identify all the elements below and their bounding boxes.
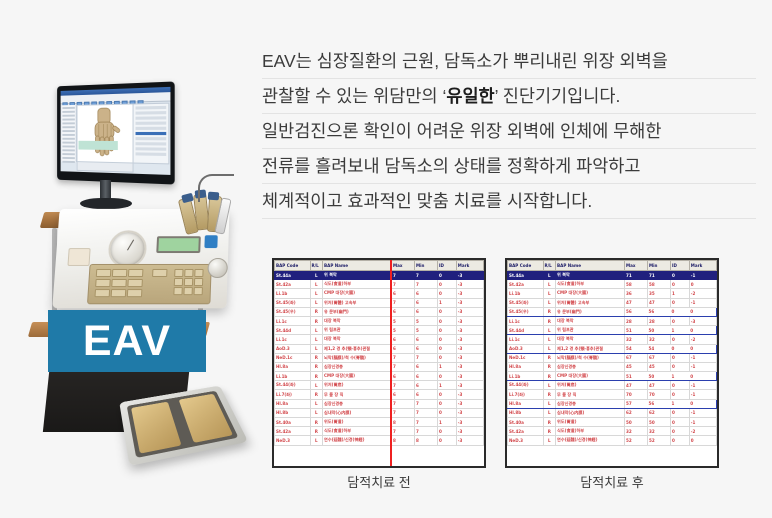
cell-4: 7 [415,271,438,280]
cell-0: St.42a [508,280,544,289]
cell-3: 45 [625,362,648,371]
cell-5: 1 [438,418,457,427]
cell-4: 58 [648,280,671,289]
column-header-5[interactable]: ID [438,261,457,271]
cell-6: 0 [689,280,716,289]
cell-2: 심내막(心内膜) [323,408,392,417]
cell-1: L [310,408,323,417]
cell-3: 7 [392,353,415,362]
cell-1: L [310,271,323,280]
cell-3: 54 [625,344,648,353]
cell-4: 47 [648,298,671,307]
cell-2: 심내막(心内膜) [556,408,625,417]
cell-1: R [310,390,323,399]
cell-2: CMP 대장(大腸) [556,289,625,298]
cell-4: 70 [648,390,671,399]
cell-3: 6 [392,390,415,399]
cell-5: 0 [671,271,690,280]
cell-4: 35 [648,289,671,298]
table-row[interactable]: Li.1bRCMP 대장(大腸)660-3 [275,372,484,381]
cell-5: 0 [438,289,457,298]
after-table-body: St.44aL위 복막71710-1St.42aL식도(食道)하부585800L… [508,271,717,446]
cell-5: 1 [671,326,690,335]
monitor-screen [61,87,171,175]
cell-1: L [543,271,556,280]
cell-3: 7 [392,399,415,408]
table-row[interactable]: St.45(우)R유 문부(幽門)660-3 [275,307,484,316]
table-row[interactable]: St.45(우)R유 문부(幽門)565600 [508,307,717,316]
column-header-2[interactable]: BAP Name [323,261,392,271]
column-header-5[interactable]: ID [671,261,690,271]
cell-0: St.44(좌) [508,381,544,390]
cell-0: Hl.8b [275,408,311,417]
cell-4: 67 [648,353,671,362]
cell-1: L [310,436,323,445]
cell-2: 위저(胃體) 고속부 [556,298,625,307]
cell-4: 71 [648,271,671,280]
cell-4: 6 [415,362,438,371]
cell-2: 대장 복막 [323,316,392,325]
table-row[interactable]: St.44aL위 복막71710-1 [508,271,717,280]
software-status-bar [77,161,134,173]
cell-3: 32 [625,335,648,344]
cell-6: -2 [689,335,716,344]
cell-2: 심장신경총 [556,399,625,408]
cell-5: 0 [671,335,690,344]
software-hand-canvas [77,103,134,163]
cell-3: 62 [625,408,648,417]
cell-3: 6 [392,372,415,381]
cell-6: 0 [689,436,716,445]
table-row[interactable]: Hl.8aR심장신경총45450-1 [508,362,717,371]
cell-3: 7 [392,271,415,280]
copy-line-3: 일반검진으론 확인이 어려운 위장 외벽에 인체에 무해한 [262,114,756,149]
cell-4: 32 [648,427,671,436]
table-row[interactable]: Hl.8aL심장신경총575610 [508,399,717,408]
cell-5: 0 [671,390,690,399]
cell-1: L [310,298,323,307]
cell-2: 식도(食道)하부 [323,280,392,289]
cell-6: -3 [456,436,483,445]
before-table-wrap: BAP CodeR/LBAP NameMaxMinIDMark St.44aL위… [272,258,486,468]
cell-1: R [543,362,556,371]
table-row[interactable]: St.40aR위도(胃道)871-3 [275,418,484,427]
cell-4: 7 [415,280,438,289]
copy-line-3-text: 일반검진으론 확인이 어려운 위장 외벽에 인체에 무해한 [262,121,661,141]
table-row[interactable]: Li.7(좌)R무 릎 장 직70700-1 [508,390,717,399]
cell-3: 67 [625,353,648,362]
table-row[interactable]: Hl.8bL심내막(心内膜)62620-1 [508,408,717,417]
cell-6: -3 [456,326,483,335]
table-header-row: BAP CodeR/LBAP NameMaxMinIDMark [275,261,484,271]
cell-6: -3 [456,427,483,436]
cell-4: 6 [415,344,438,353]
column-header-0[interactable]: BAP Code [508,261,544,271]
copy-line-5-text: 체계적이고 효과적인 맞춤 치료를 시작합니다. [262,191,592,211]
cell-2: 위저(胃底) [556,381,625,390]
cell-6: -1 [689,390,716,399]
cell-2: 연수(延髓)/신경(神經) [323,436,392,445]
foot-plate-inner [127,391,239,458]
cell-3: 52 [625,436,648,445]
cell-2: 위도(胃道) [323,418,392,427]
table-row[interactable]: Hl.8aL심장신경총770-3 [275,399,484,408]
cell-1: L [310,344,323,353]
cell-4: 6 [415,298,438,307]
cell-1: R [310,353,323,362]
cell-0: NeD.1c [508,353,544,362]
cell-1: L [543,399,556,408]
monitor-frame [57,81,175,184]
description-copy: EAV는 심장질환의 근원, 담독소가 뿌리내린 위장 외벽을 관찰할 수 있는… [262,44,756,219]
cell-6: 0 [689,344,716,353]
cell-2: 뇌막(腦膜)/척 수(脊髓) [323,353,392,362]
before-caption: 담적치료 전 [272,472,486,491]
cell-1: R [543,316,556,325]
rotary-knob[interactable] [207,258,228,278]
cell-0: St.45(좌) [275,298,311,307]
cell-4: 6 [415,335,438,344]
table-row[interactable]: Hl.8aR심장신경총761-3 [275,362,484,371]
cell-4: 45 [648,362,671,371]
column-header-6[interactable]: Mark [456,261,483,271]
copy-line-2-emphasis: 유일한 [446,86,494,106]
cell-6: -3 [456,289,483,298]
cell-0: Hl.8b [508,408,544,417]
cell-0: Li.1c [508,335,544,344]
before-table-body: St.44aL위 복막770-3St.42aL식도(食道)하부770-3Li.1… [275,271,484,446]
cell-0: Li.1b [508,372,544,381]
after-caption: 담적치료 후 [505,472,719,491]
cell-5: 0 [671,280,690,289]
cell-0: AoD.3 [508,344,544,353]
cell-1: R [310,362,323,371]
table-row[interactable]: St.44aL위 복막770-3 [275,271,484,280]
cell-6: -3 [456,335,483,344]
cell-0: Li.1b [275,289,311,298]
cell-2: 유 문부(幽門) [556,307,625,316]
copy-line-4-text: 전류를 흘려보내 담독소의 상태를 정확하게 파악하고 [262,156,641,176]
cell-1: R [543,390,556,399]
foot-plate-right [178,394,233,443]
table-row[interactable]: St.42aL식도(食道)하부770-3 [275,280,484,289]
cell-1: L [310,280,323,289]
cell-4: 47 [648,381,671,390]
column-header-4[interactable]: Min [648,261,671,271]
cell-6: -3 [456,280,483,289]
cell-6: -2 [689,427,716,436]
cell-0: Li.1b [275,372,311,381]
cell-3: 7 [392,408,415,417]
column-header-4[interactable]: Min [415,261,438,271]
cell-3: 32 [625,427,648,436]
cell-3: 58 [625,280,648,289]
cell-1: L [543,344,556,353]
cell-6: -3 [456,353,483,362]
cell-3: 7 [392,381,415,390]
cell-3: 8 [392,418,415,427]
cell-5: 0 [438,399,457,408]
table-row[interactable]: St.42aR식도(食道)하부770-3 [275,427,484,436]
table-row[interactable]: NeD.1cR뇌막(腦膜)/척 수(脊髓)67670-1 [508,353,717,362]
cell-2: CMP 대장(大腸) [556,372,625,381]
cell-0: St.45(우) [508,307,544,316]
cell-0: Hl.8a [508,399,544,408]
table-row[interactable]: Li.1bLCMP 대장(大腸)660-3 [275,289,484,298]
table-row[interactable]: Li.1cL대장 복막660-3 [275,335,484,344]
table-row[interactable]: Li.1cR대장 복막28280-3 [508,316,717,325]
promo-page: EAV EAV는 심장질환의 근원, 담독소가 뿌리내린 위장 외벽을 관찰할 … [0,0,772,518]
cell-3: 57 [625,399,648,408]
eav-device-photo: EAV [0,22,262,492]
table-row[interactable]: Li.1bRCMP 대장(大腸)515010 [508,372,717,381]
cell-3: 50 [625,418,648,427]
cell-6: -3 [456,381,483,390]
cell-5: 0 [671,381,690,390]
cell-3: 7 [392,280,415,289]
cell-5: 0 [438,408,457,417]
software-right-panel [133,103,170,165]
cell-0: St.40a [508,418,544,427]
table-row[interactable]: St.42aR식도(食道)하부32320-2 [508,427,717,436]
cell-4: 6 [415,307,438,316]
cell-2: CMP 대장(大腸) [323,372,392,381]
cell-6: -1 [689,381,716,390]
cell-4: 50 [648,418,671,427]
cell-0: NeD.3 [275,436,311,445]
cell-1: R [310,372,323,381]
cell-5: 0 [438,344,457,353]
column-header-1[interactable]: R/L [543,261,556,271]
probe-rack [180,182,238,248]
table-row[interactable]: St.45(좌)L위저(胃體) 고속부47470-1 [508,298,717,307]
cell-5: 0 [671,344,690,353]
cell-3: 6 [392,335,415,344]
cell-4: 50 [648,326,671,335]
cell-0: Hl.8a [508,362,544,371]
cell-4: 32 [648,335,671,344]
cell-2: 위 복막 [323,271,392,280]
copy-line-1-text: EAV는 심장질환의 근원, 담독소가 뿌리내린 위장 외벽을 [262,51,668,71]
table-row[interactable]: Li.1bLCMP 대장(大腸)36351-2 [508,289,717,298]
cell-4: 7 [415,408,438,417]
cell-6: -3 [456,307,483,316]
column-header-3[interactable]: Max [392,261,415,271]
cell-4: 5 [415,326,438,335]
cell-3: 51 [625,326,648,335]
cell-6: -3 [456,344,483,353]
cell-0: Li.1c [508,316,544,325]
table-row[interactable]: St.44dL위 림프관550-3 [275,326,484,335]
cell-5: 0 [671,298,690,307]
table-row[interactable]: Hl.8bL심내막(心内膜)770-3 [275,408,484,417]
cell-6: -3 [456,372,483,381]
table-row[interactable]: NeD.1cR뇌막(腦膜)/척 수(脊髓)770-3 [275,353,484,362]
cell-5: 0 [438,335,457,344]
cell-0: St.44a [275,271,311,280]
copy-line-2-pre: 관찰할 수 있는 위담만의 ‘ [262,86,446,106]
table-row[interactable]: Li.1cR대장 복막550-3 [275,316,484,325]
cell-6: 0 [689,326,716,335]
cell-5: 0 [438,280,457,289]
cell-2: 무 릎 장 직 [323,390,392,399]
cell-0: St.42a [275,427,311,436]
cell-6: -1 [689,353,716,362]
cell-6: -3 [456,316,483,325]
table-row[interactable]: Li.1cL대장 복막32320-2 [508,335,717,344]
cell-5: 0 [671,362,690,371]
cell-1: R [543,353,556,362]
cell-2: 무 릎 장 직 [556,390,625,399]
cell-0: St.44d [275,326,311,335]
cell-1: L [543,298,556,307]
cell-5: 1 [671,399,690,408]
cell-4: 8 [415,436,438,445]
cell-2: 위저(胃體) 고속부 [323,298,392,307]
cell-2: 심장신경총 [323,362,392,371]
cell-0: St.44d [508,326,544,335]
cell-3: 71 [625,271,648,280]
copy-line-2-post: ’ 진단기기입니다. [495,86,621,106]
cell-5: 1 [671,289,690,298]
cell-5: 1 [438,362,457,371]
cell-1: R [310,307,323,316]
analog-meter-dial[interactable] [107,230,147,268]
cell-4: 56 [648,307,671,316]
cell-2: 대장 복막 [323,335,392,344]
table-row[interactable]: NeD.3L연수(延髓)/신경(神經)525200 [508,436,717,445]
cell-2: 식도(食道)하부 [556,280,625,289]
cell-6: -3 [456,362,483,371]
cell-3: 5 [392,316,415,325]
copy-line-1: EAV는 심장질환의 근원, 담독소가 뿌리내린 위장 외벽을 [262,44,756,79]
cell-5: 0 [671,418,690,427]
electrode-pad[interactable] [67,248,90,266]
cell-3: 70 [625,390,648,399]
cell-0: St.40a [275,418,311,427]
cell-0: Li.7(좌) [275,390,311,399]
cell-3: 47 [625,298,648,307]
cell-4: 6 [415,381,438,390]
column-header-2[interactable]: BAP Name [556,261,625,271]
cell-5: 0 [438,316,457,325]
cell-3: 6 [392,307,415,316]
cell-5: 1 [671,372,690,381]
copy-line-4: 전류를 흘려보내 담독소의 상태를 정확하게 파악하고 [262,149,756,184]
cell-0: St.44(좌) [275,381,311,390]
cell-2: 심장신경총 [556,362,625,371]
cell-4: 54 [648,344,671,353]
cell-6: -3 [456,408,483,417]
cell-3: 36 [625,289,648,298]
after-measurement-table: BAP CodeR/LBAP NameMaxMinIDMark St.44aL위… [507,260,717,446]
cell-1: R [310,418,323,427]
column-header-1[interactable]: R/L [310,261,323,271]
cell-5: 0 [438,271,457,280]
cell-5: 0 [671,436,690,445]
cell-5: 0 [438,390,457,399]
cell-0: St.42a [508,427,544,436]
cell-2: 유 문부(幽門) [323,307,392,316]
cell-1: L [310,289,323,298]
cell-2: 제1,2 경 추(頸-흉추)관절 [556,344,625,353]
cell-1: L [543,280,556,289]
cell-0: Li.1b [508,289,544,298]
cell-3: 5 [392,326,415,335]
cell-1: L [310,335,323,344]
cell-1: R [310,316,323,325]
cell-5: 0 [671,427,690,436]
cell-5: 0 [671,353,690,362]
hand-diagram-icon [86,106,124,158]
cell-1: L [543,381,556,390]
eav-banner-label: EAV [83,317,171,366]
column-header-0[interactable]: BAP Code [275,261,311,271]
cell-4: 28 [648,316,671,325]
cell-3: 28 [625,316,648,325]
cell-3: 7 [392,362,415,371]
cell-4: 7 [415,427,438,436]
cell-1: L [310,381,323,390]
cell-2: 뇌막(腦膜)/척 수(脊髓) [556,353,625,362]
cell-1: R [310,427,323,436]
cell-0: AoD.3 [275,344,311,353]
cell-1: R [543,372,556,381]
cell-2: 위도(胃道) [556,418,625,427]
before-measurement-table: BAP CodeR/LBAP NameMaxMinIDMark St.44aL위… [274,260,484,446]
table-row[interactable]: AoD.3L제1,2 경 추(頸-흉추)관절660-3 [275,344,484,353]
cell-0: St.45(좌) [508,298,544,307]
table-row[interactable]: St.42aL식도(食道)하부585800 [508,280,717,289]
cell-4: 7 [415,399,438,408]
table-row[interactable]: St.45(좌)L위저(胃體) 고속부761-3 [275,298,484,307]
cell-5: 0 [438,326,457,335]
table-row[interactable]: Li.7(좌)R무 릎 장 직660-3 [275,390,484,399]
cell-2: 심장신경총 [323,399,392,408]
column-header-6[interactable]: Mark [689,261,716,271]
cell-5: 0 [671,316,690,325]
cell-6: -1 [689,271,716,280]
cell-3: 56 [625,307,648,316]
cell-5: 0 [671,408,690,417]
cell-5: 0 [438,427,457,436]
table-row[interactable]: St.44(좌)L위저(胃底)761-3 [275,381,484,390]
cell-3: 51 [625,372,648,381]
cell-2: 위 림프관 [556,326,625,335]
after-table-wrap: BAP CodeR/LBAP NameMaxMinIDMark St.44aL위… [505,258,719,468]
table-row[interactable]: St.40aR위도(胃道)50500-1 [508,418,717,427]
cell-3: 7 [392,298,415,307]
table-row[interactable]: AoD.3L제1,2 경 추(頸-흉추)관절545400 [508,344,717,353]
table-row[interactable]: St.44dL위 림프관515010 [508,326,717,335]
cell-6: -1 [689,362,716,371]
cell-6: -3 [456,418,483,427]
cell-2: 위저(胃底) [323,381,392,390]
cell-6: -1 [689,408,716,417]
table-row[interactable]: NeD.3L연수(延髓)/신경(神經)880-3 [275,436,484,445]
cell-6: 0 [689,307,716,316]
control-keypad[interactable] [87,264,212,304]
cell-5: 0 [438,353,457,362]
column-header-3[interactable]: Max [625,261,648,271]
cell-3: 6 [392,344,415,353]
cell-4: 50 [648,372,671,381]
cell-6: -2 [689,289,716,298]
cell-1: L [543,335,556,344]
cell-5: 0 [671,307,690,316]
cell-6: -3 [456,390,483,399]
table-row[interactable]: St.44(좌)L위저(胃底)47470-1 [508,381,717,390]
